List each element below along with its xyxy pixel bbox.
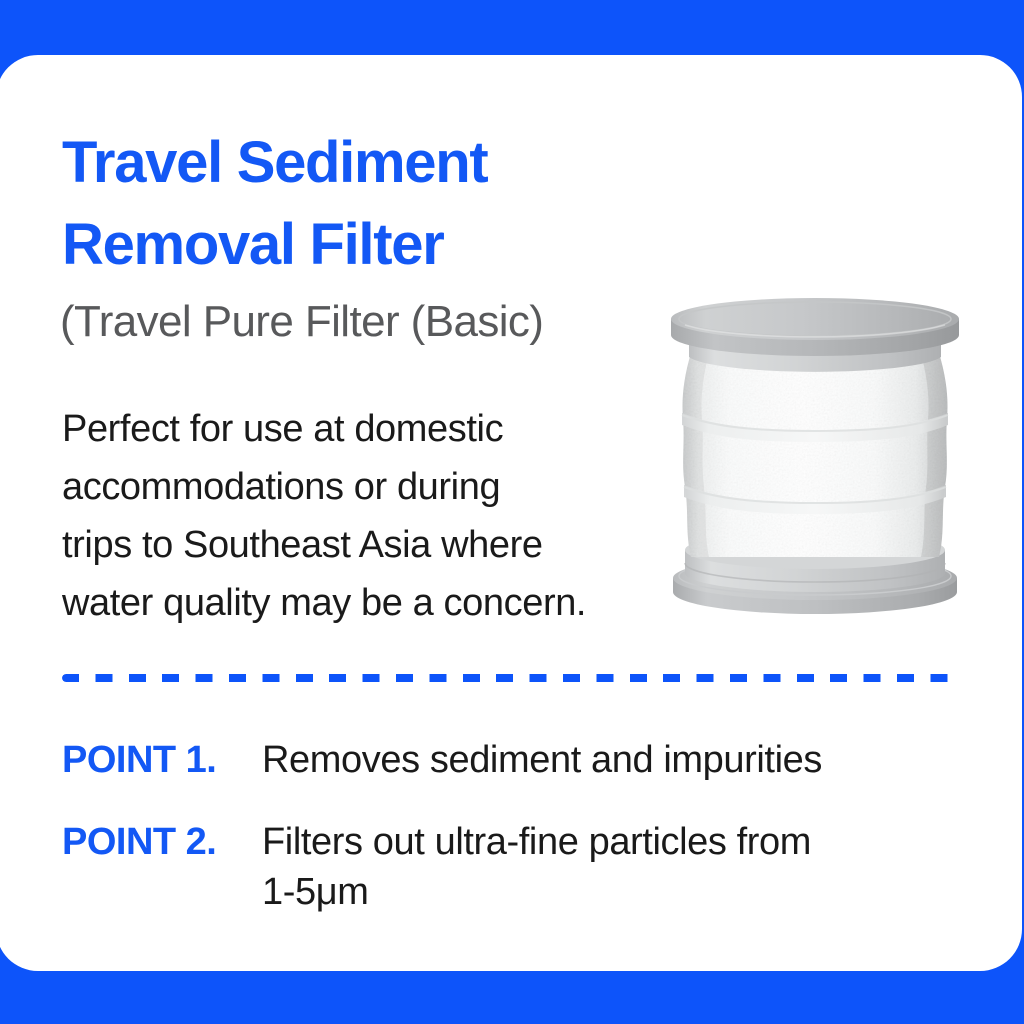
point-2-text: Filters out ultra-fine particles from 1-…: [262, 817, 962, 917]
filter-cartridge-image: [655, 295, 975, 620]
point-2-label: POINT 2.: [62, 817, 262, 867]
product-subtitle: (Travel Pure Filter (Basic): [60, 296, 700, 349]
poster-canvas: Travel Sediment Removal Filter (Travel P…: [0, 0, 1024, 1024]
point-1-label: POINT 1.: [62, 735, 262, 785]
filter-top-cap: [671, 298, 959, 356]
filter-body: [682, 353, 947, 557]
page-title: Travel Sediment Removal Filter: [62, 122, 682, 287]
point-row-1: POINT 1. Removes sediment and impurities: [62, 735, 962, 785]
product-description: Perfect for use at domestic accommodatio…: [62, 400, 672, 633]
point-1-text: Removes sediment and impurities: [262, 735, 962, 785]
dashed-divider: [62, 674, 962, 682]
point-row-2: POINT 2. Filters out ultra-fine particle…: [62, 817, 962, 917]
